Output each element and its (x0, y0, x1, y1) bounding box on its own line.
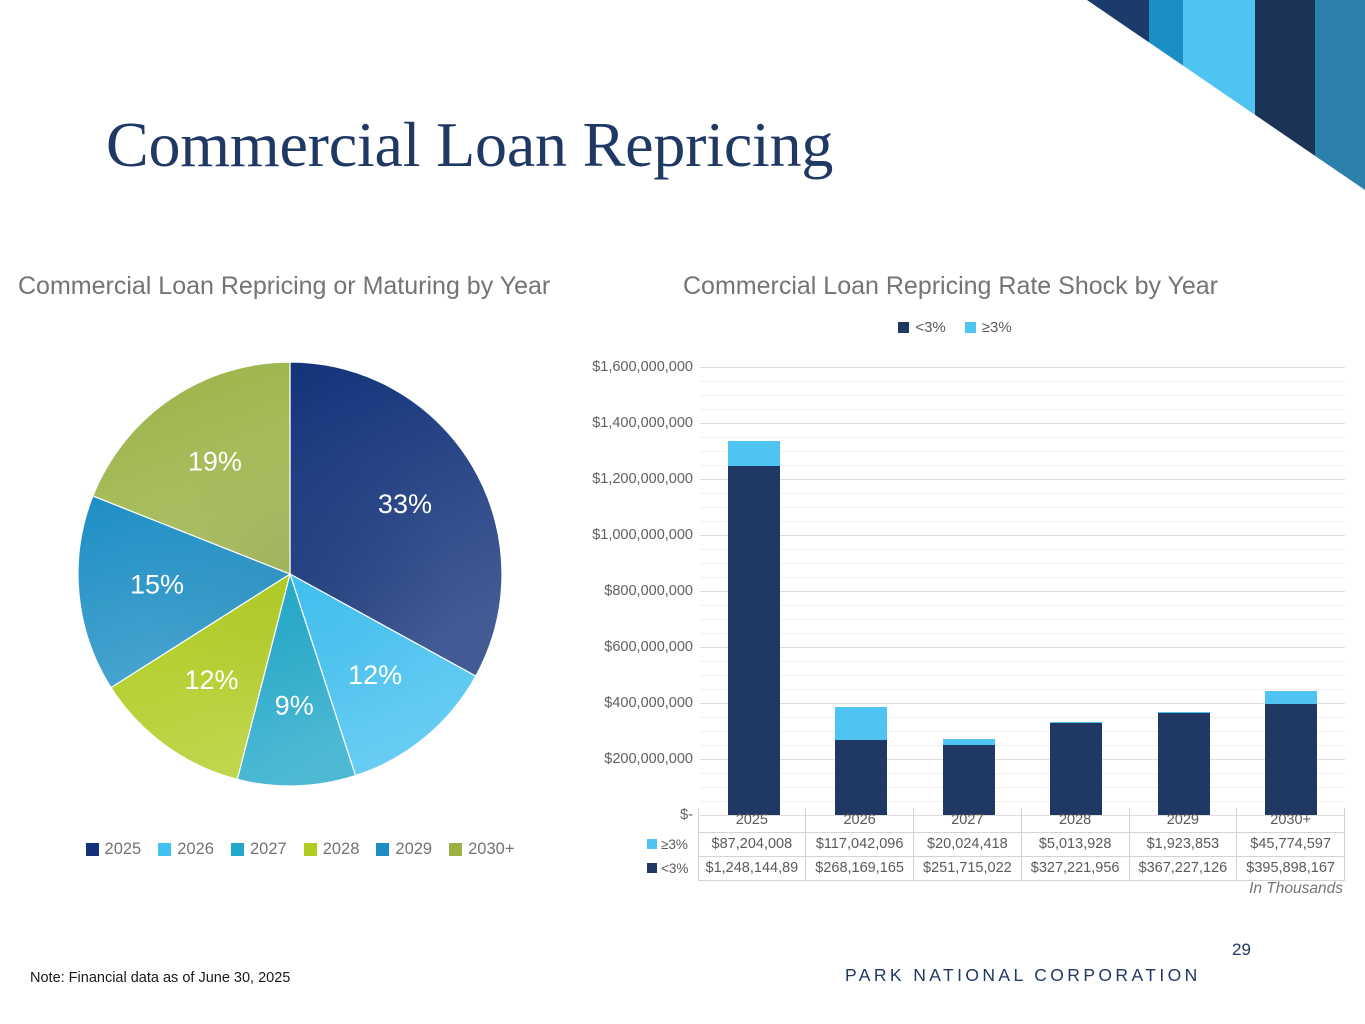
gridline (700, 591, 1345, 592)
gridline (700, 437, 1345, 438)
deco-stripe-4 (1255, 0, 1315, 190)
legend-swatch-icon (647, 839, 657, 849)
gridline (700, 521, 1345, 522)
table-column-header-2028: 2028 (1021, 808, 1129, 832)
legend-swatch-icon (231, 843, 244, 856)
legend-swatch-icon (449, 843, 462, 856)
table-header-row: 202520262027202820292030+ (645, 808, 1345, 832)
bar-segment-lt3-2025[interactable] (728, 466, 780, 815)
bar-segment-gte3-2028[interactable] (1050, 722, 1102, 723)
gridline (700, 675, 1345, 676)
bar-legend-item-≥3%[interactable]: ≥3% (965, 319, 1012, 336)
bar-column-2027[interactable] (943, 367, 995, 815)
bar-chart-subtitle: Commercial Loan Repricing Rate Shock by … (683, 272, 1218, 301)
bar-segment-lt3-2030+[interactable] (1265, 704, 1317, 815)
y-axis-tick-label: $1,200,000,000 (592, 471, 693, 487)
bar-column-2030+[interactable] (1265, 367, 1317, 815)
table-cell-≥3%-2025: $87,204,008 (698, 832, 806, 856)
pie-chart: 33%12%9%12%15%19% (76, 360, 504, 788)
gridline (700, 773, 1345, 774)
bar-legend-label: ≥3% (982, 319, 1012, 336)
gridline (700, 703, 1345, 704)
pie-legend-label: 2025 (105, 840, 142, 859)
deco-stripe-5 (1315, 0, 1365, 190)
deco-stripe-3 (1183, 0, 1255, 190)
table-cell-<3%-2027: $251,715,022 (914, 856, 1022, 880)
gridline (700, 535, 1345, 536)
pie-legend-label: 2028 (323, 840, 360, 859)
y-axis-tick-label: $200,000,000 (604, 751, 693, 767)
table-cell-<3%-2025: $1,248,144,89 (698, 856, 806, 880)
gridline (700, 661, 1345, 662)
table-cell-≥3%-2028: $5,013,928 (1021, 832, 1129, 856)
bar-legend-item-<3%[interactable]: <3% (898, 319, 945, 336)
bar-legend-label: <3% (915, 319, 945, 336)
gridline (700, 465, 1345, 466)
bar-column-2026[interactable] (835, 367, 887, 815)
gridline (700, 563, 1345, 564)
page-number: 29 (1232, 940, 1251, 960)
pie-slice-label-2030+: 19% (188, 447, 242, 477)
pie-legend-item-2026[interactable]: 2026 (158, 840, 214, 859)
table-cell-≥3%-2027: $20,024,418 (914, 832, 1022, 856)
gridline (700, 507, 1345, 508)
pie-legend-item-2027[interactable]: 2027 (231, 840, 287, 859)
gridline (700, 745, 1345, 746)
gridline (700, 451, 1345, 452)
table-row-header-label: <3% (661, 861, 688, 876)
bar-segment-gte3-2030+[interactable] (1265, 691, 1317, 704)
gridline (700, 409, 1345, 410)
table-row-header-<3%: <3% (645, 856, 698, 880)
gridline (700, 633, 1345, 634)
legend-swatch-icon (376, 843, 389, 856)
bar-segment-gte3-2029[interactable] (1158, 712, 1210, 713)
pie-slice-label-2026: 12% (348, 660, 402, 690)
legend-swatch-icon (158, 843, 171, 856)
gridline (700, 619, 1345, 620)
gridline (700, 367, 1345, 368)
table-cell-<3%-2029: $367,227,126 (1129, 856, 1237, 880)
table-column-header-2029: 2029 (1129, 808, 1237, 832)
table-cell-≥3%-2030+: $45,774,597 (1237, 832, 1345, 856)
table-row: ≥3%$87,204,008$117,042,096$20,024,418$5,… (645, 832, 1345, 856)
gridline (700, 479, 1345, 480)
pie-legend-item-2030+[interactable]: 2030+ (449, 840, 514, 859)
legend-swatch-icon (86, 843, 99, 856)
bar-segment-lt3-2026[interactable] (835, 740, 887, 815)
pie-legend-item-2025[interactable]: 2025 (86, 840, 142, 859)
bar-chart-legend: <3%≥3% (560, 319, 1350, 336)
legend-swatch-icon (898, 322, 909, 333)
gridline (700, 759, 1345, 760)
units-note: In Thousands (1249, 880, 1343, 898)
pie-slice-label-2029: 15% (130, 570, 184, 600)
y-axis-tick-label: $1,600,000,000 (592, 359, 693, 375)
bar-segment-gte3-2027[interactable] (943, 739, 995, 745)
legend-swatch-icon (304, 843, 317, 856)
gridline (700, 395, 1345, 396)
pie-legend-item-2029[interactable]: 2029 (376, 840, 432, 859)
gridline (700, 549, 1345, 550)
gridline (700, 731, 1345, 732)
gridline (700, 717, 1345, 718)
pie-slice-label-2027: 9% (275, 691, 314, 721)
gridline (700, 423, 1345, 424)
gridline (700, 787, 1345, 788)
pie-legend-label: 2030+ (468, 840, 514, 859)
table-row-header-label: ≥3% (661, 837, 688, 852)
table-cell-≥3%-2029: $1,923,853 (1129, 832, 1237, 856)
bar-segment-gte3-2025[interactable] (728, 441, 780, 465)
gridline (700, 577, 1345, 578)
table-column-header-2030+: 2030+ (1237, 808, 1345, 832)
page-title: Commercial Loan Repricing (106, 108, 833, 182)
corner-decoration-graphic (1087, 0, 1365, 190)
footnote: Note: Financial data as of June 30, 2025 (30, 970, 290, 986)
bar-column-2028[interactable] (1050, 367, 1102, 815)
bar-column-2029[interactable] (1158, 367, 1210, 815)
pie-chart-legend: 202520262027202820292030+ (0, 840, 600, 859)
table-row-header-≥3%: ≥3% (645, 832, 698, 856)
y-axis-tick-label: $600,000,000 (604, 639, 693, 655)
bar-chart-plot-area: $1,600,000,000$1,400,000,000$1,200,000,0… (700, 367, 1345, 815)
bar-segment-lt3-2027[interactable] (943, 745, 995, 815)
pie-chart-subtitle: Commercial Loan Repricing or Maturing by… (18, 272, 550, 301)
table-row: <3%$1,248,144,89$268,169,165$251,715,022… (645, 856, 1345, 880)
table-cell-≥3%-2026: $117,042,096 (806, 832, 914, 856)
bar-chart-data-table: 202520262027202820292030+≥3%$87,204,008$… (645, 808, 1345, 881)
pie-legend-label: 2026 (177, 840, 214, 859)
table-cell-<3%-2026: $268,169,165 (806, 856, 914, 880)
table-column-header-2026: 2026 (806, 808, 914, 832)
gridline (700, 689, 1345, 690)
table-column-header-2025: 2025 (698, 808, 806, 832)
legend-swatch-icon (647, 863, 657, 873)
y-axis-tick-label: $1,400,000,000 (592, 415, 693, 431)
pie-legend-label: 2029 (395, 840, 432, 859)
gridline (700, 801, 1345, 802)
legend-swatch-icon (965, 322, 976, 333)
bar-segment-gte3-2026[interactable] (835, 707, 887, 740)
y-axis-tick-label: $800,000,000 (604, 583, 693, 599)
slide-canvas: Commercial Loan Repricing Commercial Loa… (0, 0, 1365, 1024)
bar-segment-lt3-2029[interactable] (1158, 712, 1210, 815)
gridline (700, 493, 1345, 494)
gridline (700, 647, 1345, 648)
table-cell-<3%-2028: $327,221,956 (1021, 856, 1129, 880)
y-axis-tick-label: $1,000,000,000 (592, 527, 693, 543)
pie-legend-label: 2027 (250, 840, 287, 859)
bar-segment-lt3-2028[interactable] (1050, 723, 1102, 815)
table-cell-<3%-2030+: $395,898,167 (1237, 856, 1345, 880)
table-column-header-2027: 2027 (914, 808, 1022, 832)
deco-stripe-1 (1087, 0, 1149, 190)
pie-chart-svg: 33%12%9%12%15%19% (76, 360, 504, 788)
pie-legend-item-2028[interactable]: 2028 (304, 840, 360, 859)
y-axis-tick-label: $400,000,000 (604, 695, 693, 711)
bar-column-2025[interactable] (728, 367, 780, 815)
company-name: PARK NATIONAL CORPORATION (845, 965, 1201, 986)
table-corner-cell (645, 808, 698, 832)
gridline (700, 605, 1345, 606)
deco-stripe-2 (1149, 0, 1183, 190)
pie-slice-label-2025: 33% (378, 489, 432, 519)
pie-slice-label-2028: 12% (184, 665, 238, 695)
gridline (700, 381, 1345, 382)
